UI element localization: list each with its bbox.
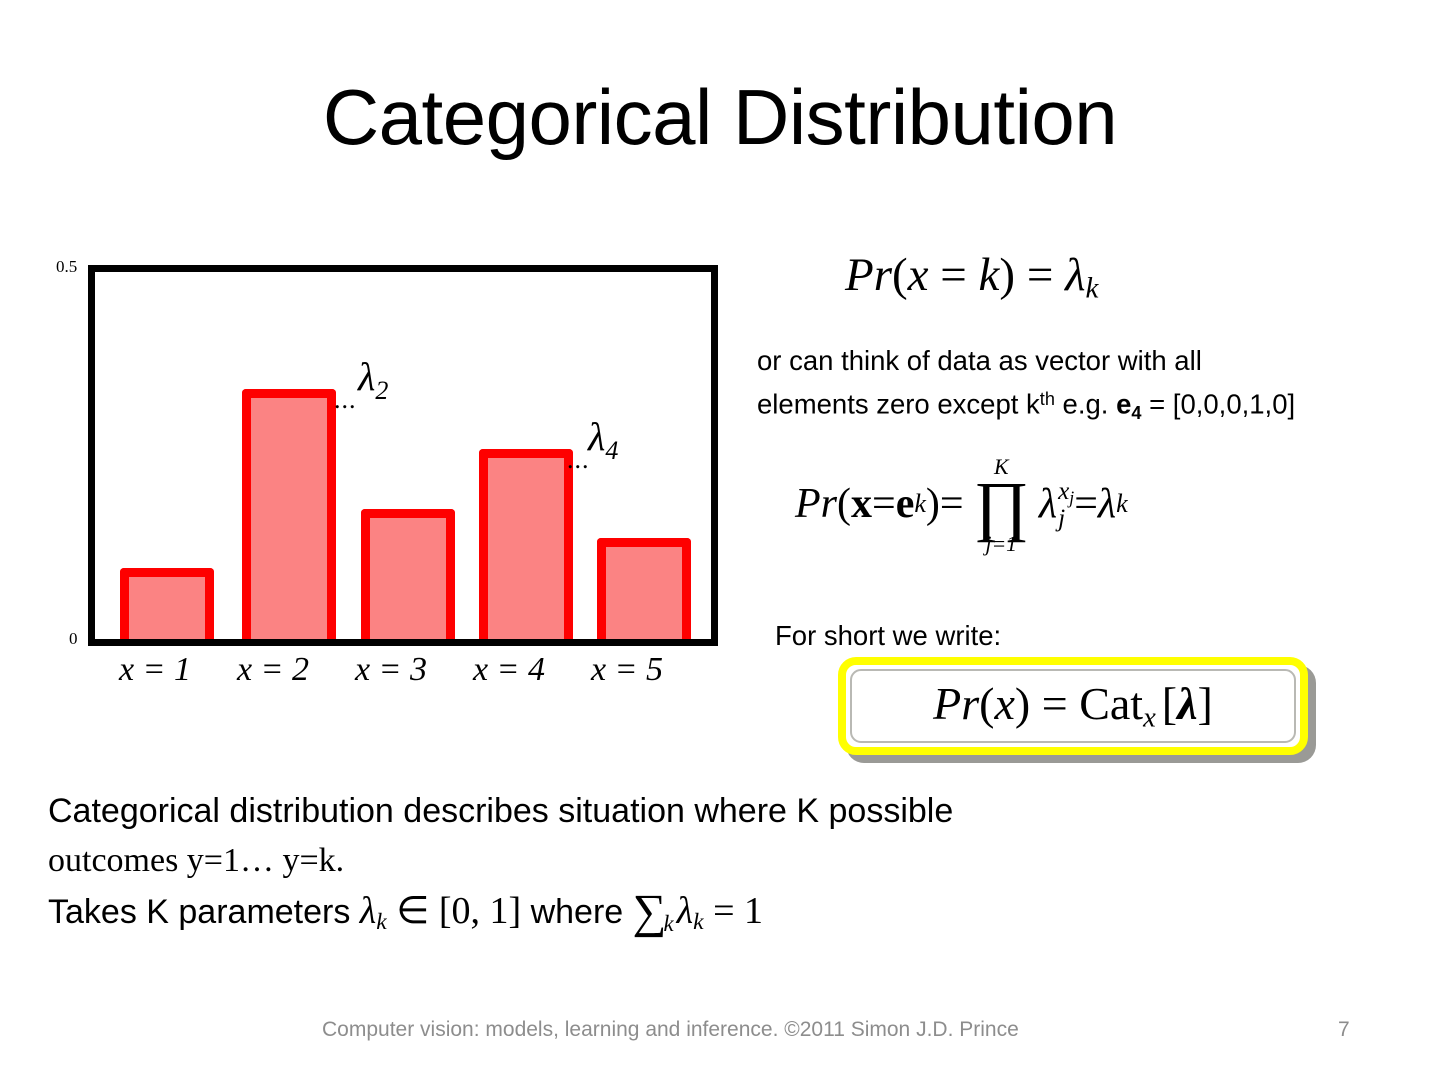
vector-note-line2-a: elements zero except k	[757, 389, 1040, 420]
body-line-3-prefix: Takes K parameters	[48, 893, 360, 931]
plot-area	[88, 265, 718, 646]
eq3-pr: Pr	[933, 678, 979, 729]
equation-sum-constraint: ∑kλk = 1	[633, 890, 763, 932]
equation-lambda-range: λk ∈ [0, 1]	[360, 890, 521, 932]
eq1-open-paren: (	[892, 249, 908, 301]
eq3-cat: Cat	[1079, 678, 1143, 729]
vector-note-e-symbol: e	[1116, 389, 1131, 420]
eq3-lambda-bold: λ	[1177, 678, 1197, 729]
eq1-close-paren: )	[999, 249, 1015, 301]
annotation-lambda-2-symbol: λ	[358, 354, 375, 399]
eq1-equals: =	[1015, 249, 1065, 301]
eq3-x: x	[994, 678, 1014, 729]
annotation-lambda-4-symbol: λ	[588, 414, 605, 459]
eq3-bracket-close: ]	[1198, 678, 1213, 729]
vector-note-line2-b: e.g.	[1055, 389, 1116, 420]
body-line-3-where: where	[521, 893, 633, 931]
bar-x4	[479, 449, 573, 639]
annotation-lambda-4: λ4	[588, 413, 618, 466]
eq5-equals-one: = 1	[704, 890, 763, 932]
vector-note-text: or can think of data as vector with all …	[757, 342, 1407, 432]
eq2-lambda-sup-base: x	[1058, 478, 1069, 505]
eq1-k: k	[979, 249, 1000, 301]
x-axis-tick-1: x = 1	[95, 651, 215, 689]
probability-bar-chart: 0.5 0 Probability ... λ2 ... λ4 x = 1 x …	[48, 255, 728, 695]
equation-product-form: Pr(x = ek) = K ∏ j=1 λxjj = λk	[795, 455, 1128, 553]
x-axis-tick-4: x = 4	[449, 651, 569, 689]
eq4-interval: [0, 1]	[439, 890, 521, 932]
bar-x1	[120, 568, 214, 639]
y-axis-tick-min: 0	[69, 629, 78, 649]
vector-note-e-subscript: 4	[1131, 403, 1141, 423]
eq2-lambda-scripts: xjj	[1058, 479, 1074, 532]
sum-glyph-icon: ∑	[633, 893, 667, 931]
eq2-equals: =	[940, 480, 964, 528]
product-glyph-icon: ∏	[974, 477, 1029, 535]
sum-subscript: k	[664, 899, 674, 949]
x-axis-tick-2: x = 2	[213, 651, 333, 689]
equation-pr-x-equals-k: Pr(x = k) = λk	[845, 248, 1098, 306]
eq3-bracket-open: [	[1162, 678, 1177, 729]
eq4-lambda-subscript: k	[376, 909, 386, 935]
eq2-e-subscript: k	[914, 489, 926, 519]
vector-note-superscript-th: th	[1040, 389, 1055, 409]
eq2-lambda-sup-sub: j	[1069, 487, 1074, 507]
eq2-pr: Pr	[795, 480, 837, 528]
eq2-equals-2: =	[1074, 480, 1098, 528]
annotation-lambda-4-subscript: 4	[605, 436, 618, 465]
eq4-lambda: λ	[360, 890, 376, 932]
for-short-we-write-label: For short we write:	[775, 620, 1001, 652]
eq2-lambda: λ	[1039, 480, 1057, 528]
eq2-lambda-superscript: xj	[1058, 479, 1074, 506]
eq3-equals: =	[1030, 678, 1079, 729]
slide-number: 7	[1338, 1018, 1350, 1042]
bar-x2	[242, 389, 336, 639]
eq1-lambda-subscript: k	[1085, 273, 1098, 305]
bar-x3	[361, 509, 455, 639]
y-axis-tick-max: 0.5	[56, 257, 77, 277]
equation-categorical-short: Pr(x) = Catx[λ]	[933, 677, 1213, 734]
body-line-3: Takes K parameters λk ∈ [0, 1] where ∑kλ…	[48, 886, 1308, 947]
body-line-1: Categorical distribution describes situa…	[48, 786, 1308, 836]
eq1-pr: Pr	[845, 249, 892, 301]
annotation-lambda-2: λ2	[358, 353, 388, 406]
annotation-lambda-2-subscript: 2	[375, 376, 388, 405]
sum-operator: ∑k	[633, 889, 677, 941]
eq1-equals-inner: =	[929, 249, 979, 301]
highlight-box-categorical: Pr(x) = Catx[λ]	[838, 657, 1308, 755]
eq2-close-paren: )	[926, 480, 940, 528]
product-operator: K ∏ j=1	[974, 457, 1029, 555]
eq2-x-bold: x	[851, 480, 872, 528]
vector-note-line1: or can think of data as vector with all	[757, 345, 1202, 376]
eq3-open-paren: (	[979, 678, 994, 729]
eq1-lambda: λ	[1065, 249, 1085, 301]
eq1-x: x	[908, 249, 929, 301]
body-paragraph: Categorical distribution describes situa…	[48, 786, 1308, 947]
eq2-rhs-lambda: λ	[1098, 480, 1116, 528]
x-axis-tick-3: x = 3	[331, 651, 451, 689]
eq3-close-paren: )	[1015, 678, 1030, 729]
product-lower-limit: j=1	[985, 534, 1017, 556]
eq5-lambda: λ	[677, 890, 693, 932]
eq2-rhs-lambda-subscript: k	[1116, 489, 1128, 519]
body-line-2: outcomes y=1… y=k.	[48, 836, 1308, 886]
bar-x5	[597, 538, 691, 639]
page-title: Categorical Distribution	[0, 78, 1440, 156]
eq3-cat-subscript: x	[1143, 703, 1156, 734]
eq4-element-of: ∈	[387, 890, 439, 932]
eq2-e-bold: e	[896, 480, 915, 528]
eq5-lambda-subscript: k	[693, 909, 703, 935]
leader-dots-lambda4: ...	[567, 445, 590, 475]
leader-dots-lambda2: ...	[334, 385, 357, 415]
vector-note-line2-c: = [0,0,0,1,0]	[1141, 389, 1295, 420]
eq2-open-paren: (	[837, 480, 851, 528]
x-axis-tick-5: x = 5	[567, 651, 687, 689]
eq2-equals-inner: =	[872, 480, 896, 528]
footer-attribution: Computer vision: models, learning and in…	[322, 1018, 1019, 1042]
eq2-lambda-subscript: j	[1058, 506, 1065, 532]
